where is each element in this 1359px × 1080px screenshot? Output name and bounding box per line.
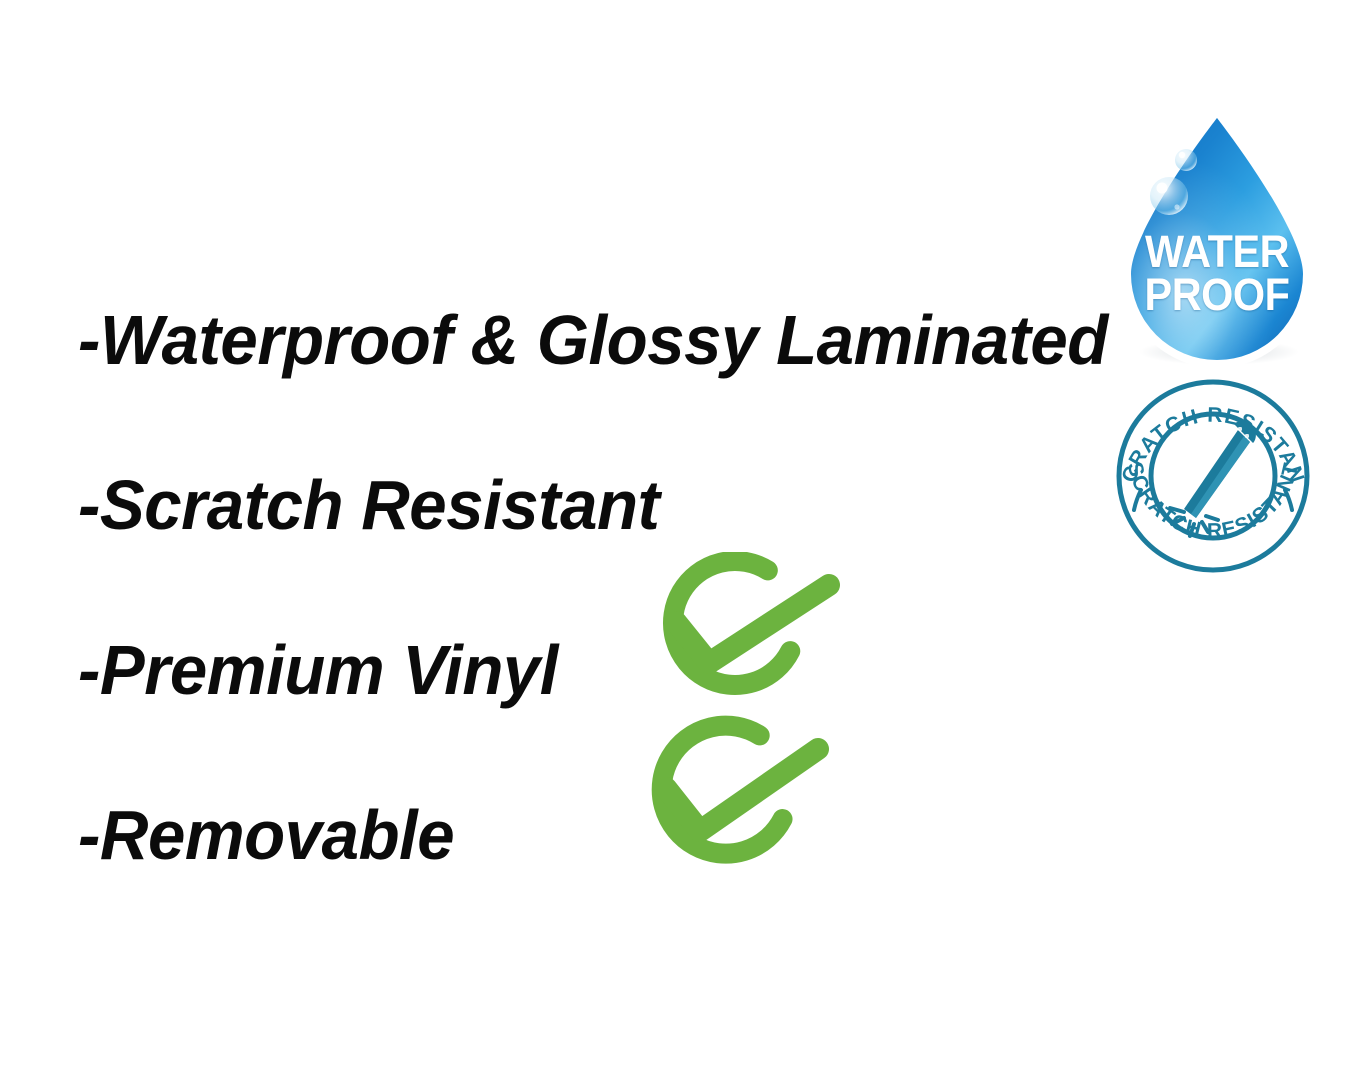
feature-item-premium-vinyl: -Premium Vinyl [78, 588, 1067, 753]
feature-highlight-graphic: -Waterproof & Glossy Laminated -Scratch … [0, 0, 1359, 1080]
check-circle-svg [626, 714, 831, 886]
scratch-resistant-seal-icon: SCRATCH RESISTANT SCRATCH RESISTANT [1110, 378, 1316, 574]
feature-item-waterproof-glossy-laminated: -Waterproof & Glossy Laminated [78, 258, 1067, 423]
feature-item-scratch-resistant: -Scratch Resistant [78, 423, 1067, 588]
feature-item-removable: -Removable [78, 753, 1067, 918]
scratch-resistant-badge: SCRATCH RESISTANT SCRATCH RESISTANT [1110, 378, 1316, 574]
waterproof-badge: WATER PROOF [1104, 104, 1330, 366]
water-drop-icon [1104, 104, 1330, 366]
green-check-circle-icon [636, 552, 841, 717]
green-check-circle-icon [626, 714, 831, 886]
feature-list: -Waterproof & Glossy Laminated -Scratch … [78, 258, 1108, 918]
check-circle-svg [636, 552, 841, 717]
